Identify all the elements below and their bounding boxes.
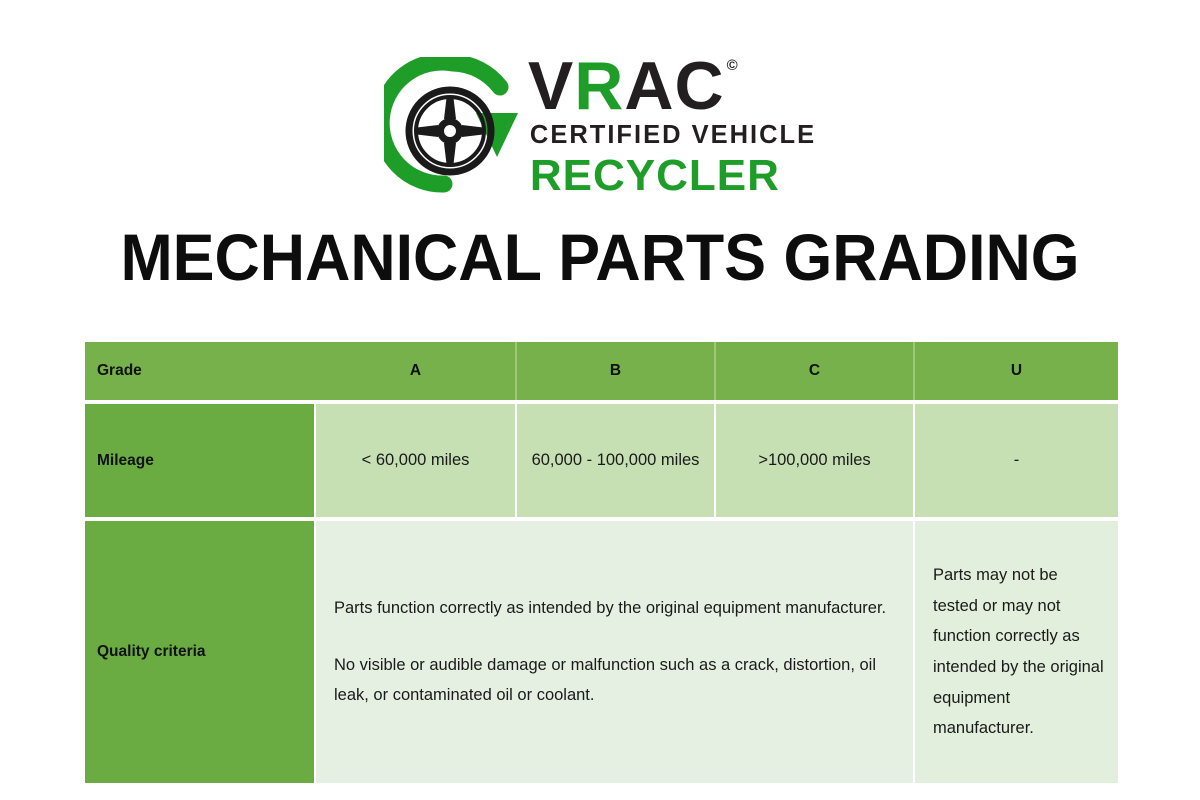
mileage-cell-b: 60,000 - 100,000 miles [517,400,716,517]
header-cell-grade: Grade [85,342,316,400]
quality-criteria-cell-u: Parts may not be tested or may not funct… [915,517,1118,783]
logo-inner: VRAC© CERTIFIED VEHICLE RECYCLER [384,56,816,199]
quality-criteria-paragraph-2: No visible or audible damage or malfunct… [334,650,893,711]
quality-criteria-cell-abc: Parts function correctly as intended by … [316,517,915,783]
logo-wordmark-ac: AC [624,52,724,120]
mechanical-parts-grading-table: Grade A B C U Mileage < 60,000 miles 60,… [85,342,1118,783]
row-label-quality-criteria: Quality criteria [85,517,316,783]
header-cell-u: U [915,342,1118,400]
mileage-cell-u: - [915,400,1118,517]
header-cell-c: C [716,342,915,400]
page-title: MECHANICAL PARTS GRADING [30,219,1170,295]
logo-tagline: CERTIFIED VEHICLE [530,123,816,149]
mileage-cell-a: < 60,000 miles [316,400,517,517]
header-cell-a: A [316,342,517,400]
table-row-quality-criteria: Quality criteria Parts function correctl… [85,517,1118,783]
brand-logo: VRAC© CERTIFIED VEHICLE RECYCLER [0,52,1200,202]
mileage-cell-c: >100,000 miles [716,400,915,517]
quality-criteria-paragraph-1: Parts function correctly as intended by … [334,593,893,624]
logo-recycler-word: RECYCLER [530,154,816,198]
logo-wordmark: VRAC© [528,56,816,116]
row-label-mileage: Mileage [85,400,316,517]
logo-wordmark-v: V [528,52,574,120]
recycling-arrow-wheel-logo-icon [384,57,522,197]
table-row-mileage: Mileage < 60,000 miles 60,000 - 100,000 … [85,400,1118,517]
table-header-row: Grade A B C U [85,342,1118,400]
logo-wordmark-r: R [574,52,624,120]
logo-text-block: VRAC© CERTIFIED VEHICLE RECYCLER [528,56,816,199]
copyright-icon: © [727,58,739,73]
header-cell-b: B [517,342,716,400]
